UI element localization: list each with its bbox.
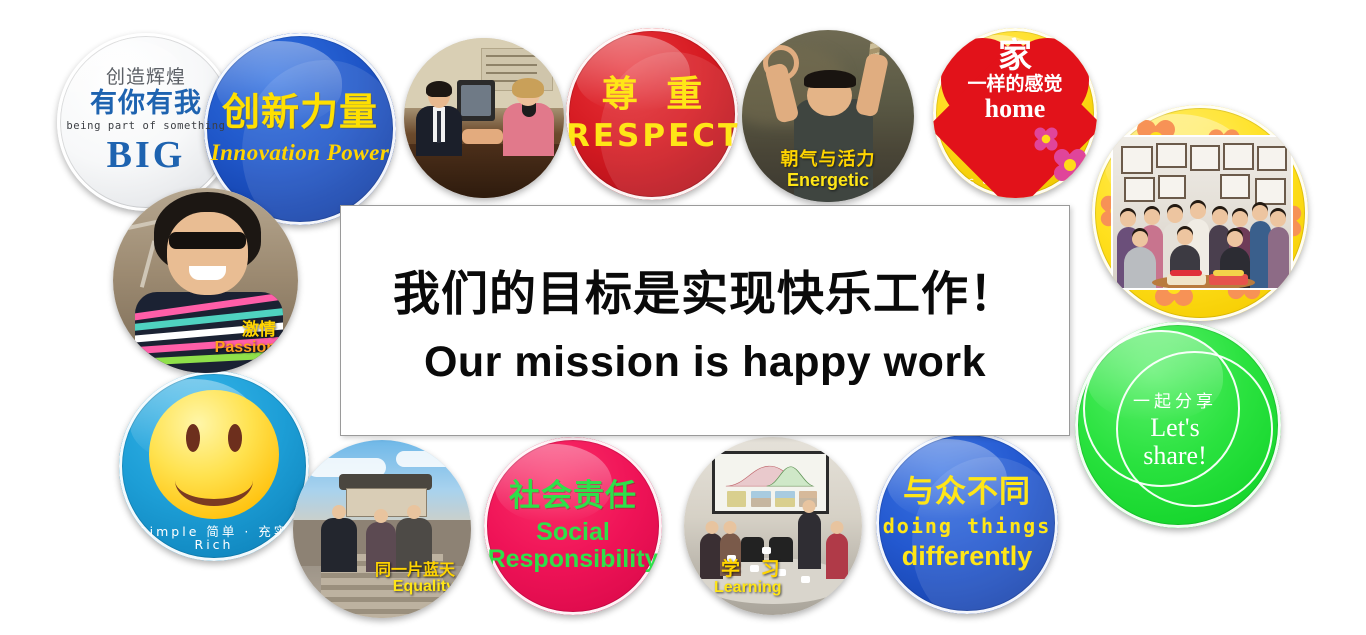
differently-line-cn: 与众不同	[876, 476, 1058, 509]
home-line-3: home	[985, 95, 1046, 122]
differently-line-en-1: doing things	[876, 516, 1058, 537]
badge-respect[interactable]: 尊 重 RESPECT	[566, 28, 738, 200]
badge-social-responsibility[interactable]: 社会责任 Social Responsibility	[484, 437, 662, 615]
badge-simple-and-rich[interactable]: Simple 简单 · 充实 Rich	[119, 371, 309, 561]
equality-caption: 同一片蓝天 Equality	[375, 562, 455, 596]
energetic-caption-cn: 朝气与活力	[742, 151, 914, 170]
smiley-face-icon	[149, 390, 278, 519]
respect-line-cn: 尊 重	[566, 76, 738, 114]
share-line-en-1: Let's	[1133, 414, 1217, 441]
social-line-en-2: Responsibility	[484, 546, 662, 572]
social-line-en-1: Social	[484, 519, 662, 545]
learning-caption-en: Learning	[714, 580, 787, 597]
badge-win-win[interactable]: 共 赢 Win-Win	[404, 38, 564, 198]
energetic-caption: 朝气与活力 Energetic	[742, 151, 914, 190]
innovation-line-en: Innovation Power	[204, 141, 396, 165]
badge-text-block: 与众不同 doing things differently	[876, 476, 1058, 570]
mission-statement-en: Our mission is happy work	[424, 338, 986, 387]
mission-statement-cn: 我们的目标是实现快乐工作！	[393, 255, 1017, 324]
badge-doing-things-differently[interactable]: 与众不同 doing things differently	[876, 432, 1058, 614]
passion-caption-en: Passion	[215, 340, 276, 357]
group-photo	[1111, 135, 1292, 290]
badge-text-block: 创新力量 Innovation Power	[204, 93, 396, 165]
mission-banner: 我们的目标是实现快乐工作！ Our mission is happy work	[340, 205, 1070, 436]
badge-lets-share[interactable]: 一起分享 Let's share!	[1075, 322, 1281, 528]
home-line-1: 家	[998, 39, 1032, 73]
share-line-cn: 一起分享	[1133, 394, 1217, 412]
badge-text-block: 尊 重 RESPECT	[566, 76, 738, 152]
equality-caption-cn: 同一片蓝天	[375, 562, 455, 579]
passion-caption: 激情 Passion	[215, 322, 276, 357]
learning-caption-cn: 学 习	[714, 560, 787, 580]
bell-curve-icon	[724, 462, 817, 488]
innovation-line-cn: 创新力量	[204, 93, 396, 133]
handshake-photo	[404, 38, 564, 198]
smile-arc-text: Simple 简单 · 充实 Rich	[119, 525, 309, 551]
badge-home-is-an-emotion[interactable]: 家 一样的感觉 home is an emotion	[933, 28, 1097, 198]
home-line-2: 一样的感觉	[967, 75, 1062, 95]
differently-line-en-2: differently	[876, 542, 1058, 570]
passion-caption-cn: 激情	[215, 322, 276, 340]
badge-text-block: 一起分享 Let's share!	[1133, 394, 1217, 469]
learning-caption: 学 习 Learning	[714, 560, 787, 597]
big-line-1: 创造辉煌	[57, 68, 235, 88]
social-line-cn: 社会责任	[484, 480, 662, 513]
share-line-en-2: share!	[1133, 442, 1217, 469]
flower-icon	[1034, 127, 1058, 151]
energetic-caption-en: Energetic	[742, 171, 914, 190]
badge-text-block: 社会责任 Social Responsibility	[484, 480, 662, 572]
culture-collage: 创造辉煌 有你有我 being part of something BIG 创新…	[0, 0, 1366, 635]
badge-equality[interactable]: 同一片蓝天 Equality	[293, 440, 471, 618]
flower-icon	[1053, 148, 1087, 182]
equality-caption-en: Equality	[375, 579, 455, 596]
badge-team-family-photo[interactable]	[1092, 105, 1308, 321]
respect-line-en: RESPECT	[566, 120, 738, 153]
badge-passion[interactable]: 激情 Passion	[113, 188, 298, 373]
badge-learning[interactable]: 学 习 Learning	[684, 437, 862, 615]
badge-energetic[interactable]: 朝气与活力 Energetic	[742, 30, 914, 202]
